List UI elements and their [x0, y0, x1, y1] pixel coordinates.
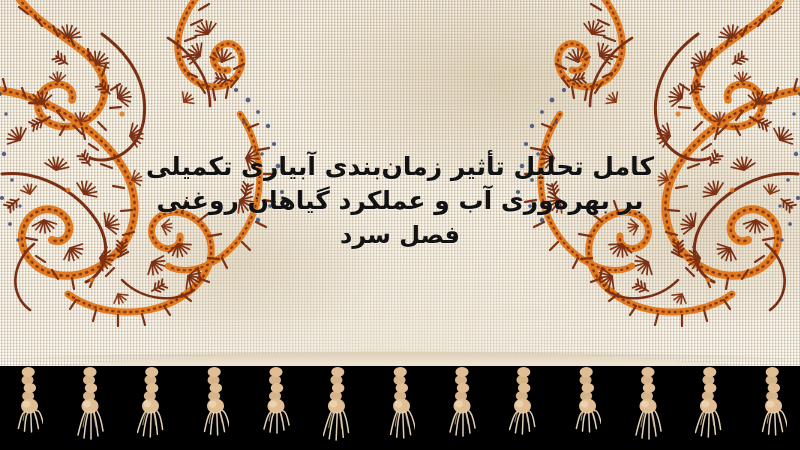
title-line-3: فصل سرد: [0, 218, 800, 252]
tassel: [385, 366, 415, 444]
tassel: [695, 366, 725, 444]
tassel: [509, 366, 539, 444]
tassel: [199, 366, 229, 444]
tassel: [633, 366, 663, 444]
tassel: [447, 366, 477, 444]
title-line-2: بر بهره‌وری آب و عملکرد گیاهان روغنی: [0, 184, 800, 218]
tassel: [13, 366, 43, 444]
tassel: [571, 366, 601, 444]
title-block: کامل تحلیل تأثیر زمان‌بندی آبیاری تکمیلی…: [0, 150, 800, 252]
tassel: [137, 366, 167, 444]
title-line-1: کامل تحلیل تأثیر زمان‌بندی آبیاری تکمیلی: [0, 150, 800, 184]
knotted-tassel-fringe: [0, 366, 800, 450]
tassel: [261, 366, 291, 444]
title-card: کامل تحلیل تأثیر زمان‌بندی آبیاری تکمیلی…: [0, 0, 800, 450]
tassel: [323, 366, 353, 444]
tassel: [757, 366, 787, 444]
tassel: [75, 366, 105, 444]
